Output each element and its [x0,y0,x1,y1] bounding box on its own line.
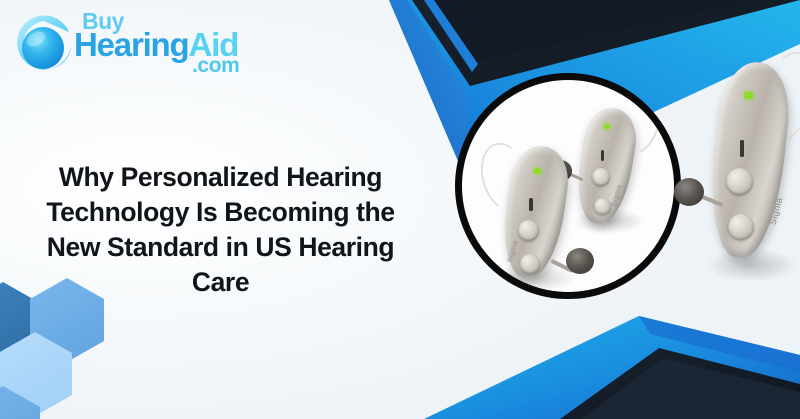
bottom-right-dark-inner [582,358,800,419]
logo-hearing-text: Hearing [74,26,188,63]
blog-banner: Buy HearingAid .com Why Personalized Hea… [0,0,800,419]
hearing-aid-large-right: Signia [700,56,800,286]
logo-dotcom-text: .com [192,54,239,78]
site-logo[interactable]: Buy HearingAid .com [14,6,284,84]
top-right-dark-inner [430,0,800,62]
top-right-blue-rim [424,0,478,72]
product-photo-circle: Signia Signia [455,73,681,299]
bottom-right-shape-group [424,316,800,419]
bottom-right-blue-polygon [424,316,800,419]
bottom-right-dark-polygon [560,348,800,419]
logo-wordmark: Buy HearingAid .com [74,6,284,82]
hearing-aid-front-left: Signia [488,136,592,288]
hexagon-cluster [0,282,146,419]
bottom-right-blue-facet [639,316,800,372]
page-title: Why Personalized Hearing Technology Is B… [18,160,423,300]
blue-swirl-circle-icon [14,12,76,74]
